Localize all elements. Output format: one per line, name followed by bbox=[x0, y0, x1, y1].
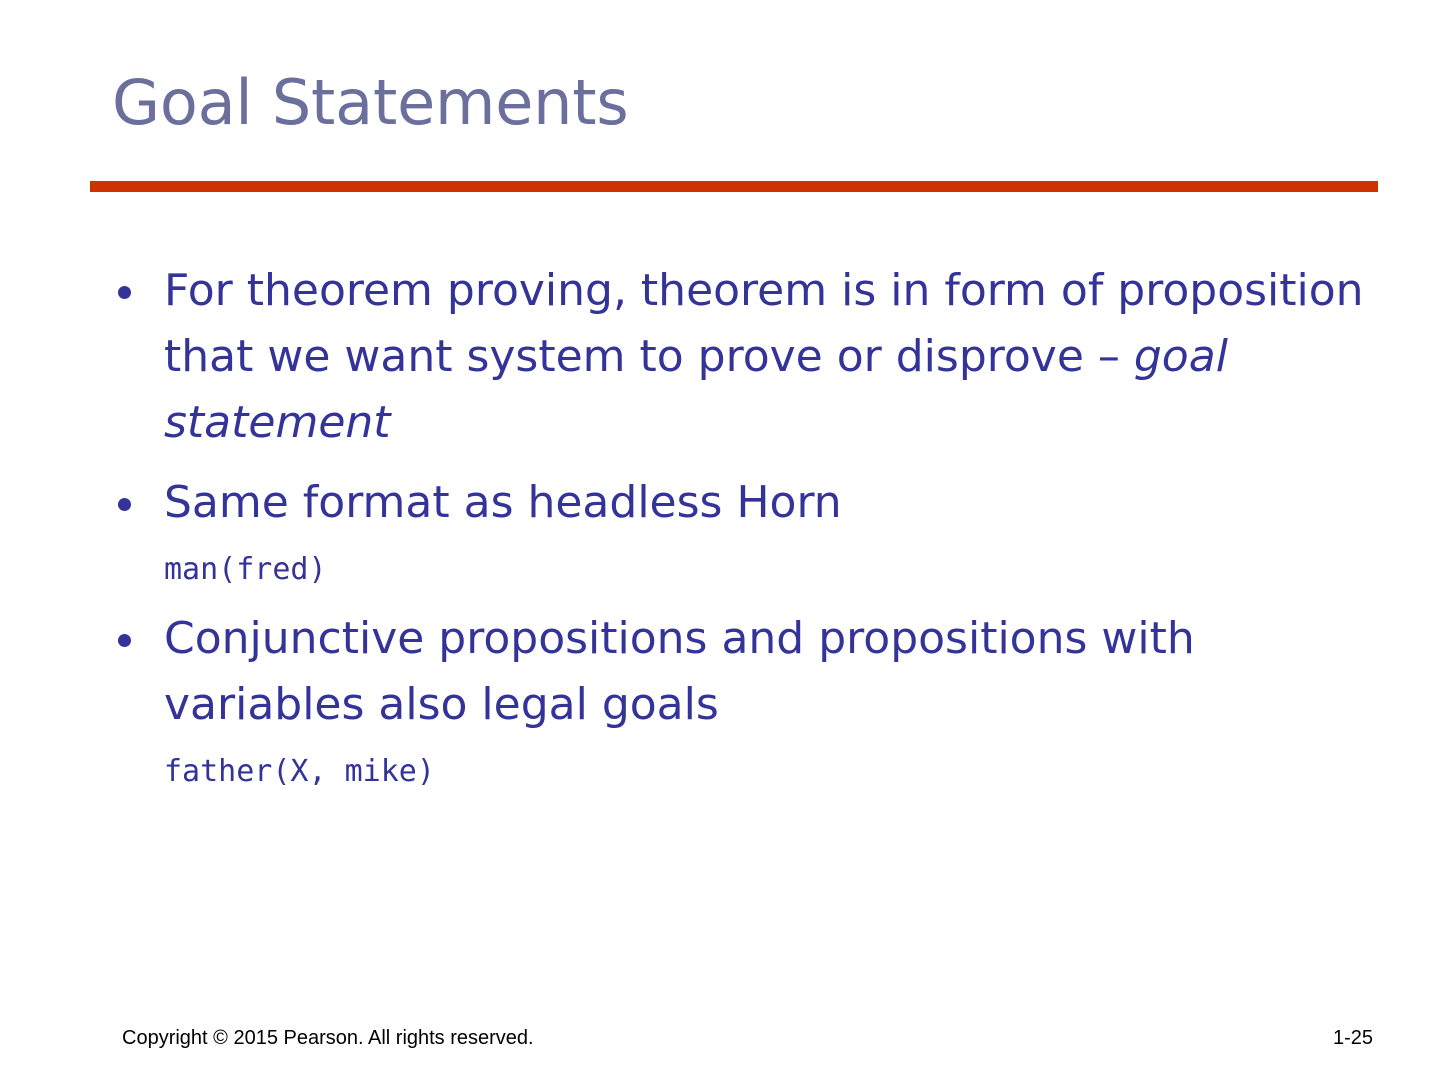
list-item: Same format as headless Horn bbox=[112, 470, 1370, 536]
slide-body: For theorem proving, theorem is in form … bbox=[112, 258, 1370, 808]
list-item-label: Same format as headless Horn bbox=[164, 470, 1370, 536]
footer-slide-number: 1-25 bbox=[1333, 1026, 1373, 1050]
title-divider-rule bbox=[90, 181, 1378, 192]
page-title: Goal Statements bbox=[112, 68, 1362, 137]
list-item-label: For theorem proving, theorem is in form … bbox=[164, 258, 1370, 456]
slide-canvas: Goal Statements For theorem proving, the… bbox=[0, 0, 1440, 1080]
bullet-dot-icon bbox=[118, 498, 131, 511]
bullet-dot-icon bbox=[118, 286, 131, 299]
footer-copyright-text: Copyright © 2015 Pearson. All rights res… bbox=[122, 1026, 534, 1050]
list-item: For theorem proving, theorem is in form … bbox=[112, 258, 1370, 456]
code-example: man(fred) bbox=[112, 548, 1370, 592]
list-item-label: Conjunctive propositions and proposition… bbox=[164, 606, 1370, 738]
bullet-dot-icon bbox=[118, 634, 131, 647]
list-item: Conjunctive propositions and proposition… bbox=[112, 606, 1370, 738]
code-example: father(X, mike) bbox=[112, 750, 1370, 794]
